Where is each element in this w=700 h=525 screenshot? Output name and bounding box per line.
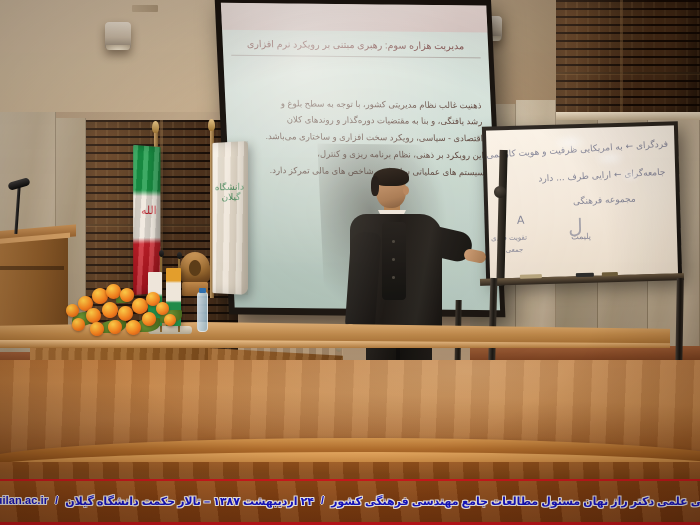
- whiteboard: فردگرای ← به امریکایی ظرفیت و هویت کاریت…: [482, 121, 682, 282]
- caption-text-row: سخنرانی علمی دکتر راز نهان مسئول مطالعات…: [0, 488, 700, 514]
- caption-separator: /: [55, 495, 58, 507]
- marker-pen[interactable]: [576, 273, 594, 278]
- lectern-shelf: [0, 266, 64, 270]
- flagpole-finial-icon: [208, 119, 215, 131]
- university-flag: دانشگاه گیلان: [212, 141, 248, 295]
- caption-lecture-title: سخنرانی علمی دکتر راز نهان مسئول مطالعات…: [331, 495, 700, 508]
- flag-knob-icon: [177, 252, 182, 259]
- acoustic-slat-panel: [556, 0, 700, 116]
- wall-trim: [556, 112, 700, 120]
- whiteboard-note-line: A: [517, 214, 525, 227]
- marker-pen[interactable]: [520, 274, 542, 279]
- caption-url[interactable]: www.guilan.ac.ir: [0, 495, 48, 507]
- whiteboard-note-line: مجموعه فرهنگی: [573, 194, 636, 207]
- caption-banner: سخنرانی علمی دکتر راز نهان مسئول مطالعات…: [0, 479, 700, 525]
- whiteboard-surface: فردگرای ← به امریکایی ظرفیت و هویت کاریت…: [486, 125, 678, 278]
- speaker-pointing-hand: [463, 248, 487, 264]
- flag-knob-icon: [159, 250, 164, 257]
- flagpole-finial-icon: [152, 121, 159, 133]
- bottle-cap: [199, 288, 206, 293]
- water-bottle: [197, 292, 208, 332]
- ceiling-vent: [132, 5, 158, 12]
- eraser[interactable]: [602, 272, 618, 276]
- lectern: [0, 238, 68, 326]
- caption-separator: /: [321, 495, 324, 507]
- whiteboard-note-line: جمعی: [506, 246, 524, 254]
- caption-date-venue: ۲۴ اردیبهشت ۱۳۸۷ – تالار حکمت دانشگاه گی…: [65, 495, 314, 508]
- flag-fold-shading: [212, 141, 248, 295]
- whiteboard-handwriting: فردگرای ← به امریکایی ظرفیت و هویت کاریت…: [486, 125, 678, 278]
- flower-bouquet: [64, 282, 196, 338]
- lecture-hall-photo: مدیریت هزاره سوم: رهبری مبتنی بر رویکرد …: [0, 0, 700, 525]
- whiteboard-diagram-mark: ل: [568, 214, 583, 238]
- speaker-waistcoat: [382, 222, 406, 300]
- whiteboard-note-line: جامعه‌گرای ← ارایی طرف ... دارد: [538, 168, 666, 185]
- banner-top-rule: [0, 479, 700, 481]
- ceiling-downlight-icon: [105, 22, 131, 50]
